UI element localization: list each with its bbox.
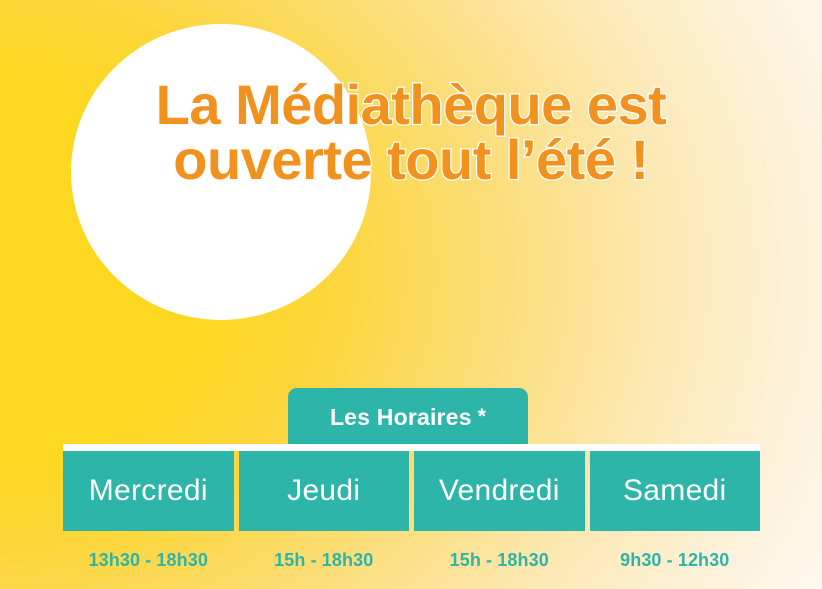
day-cell-0: Mercredi [63, 451, 234, 531]
hours-cell-1: 15h - 18h30 [239, 543, 410, 577]
days-header-row: Mercredi Jeudi Vendredi Samedi [63, 451, 760, 531]
headline-line-1: La Médiathèque est [0, 78, 822, 133]
hours-values-row: 13h30 - 18h30 15h - 18h30 15h - 18h30 9h… [63, 543, 760, 577]
table-top-rail-divider [63, 444, 760, 451]
day-cell-1: Jeudi [239, 451, 410, 531]
hours-cell-2: 15h - 18h30 [414, 543, 585, 577]
schedule-section: Les Horaires * * le mardi restant provis… [0, 388, 822, 589]
hours-cell-0: 13h30 - 18h30 [63, 543, 234, 577]
poster-canvas: La Médiathèque est ouverte tout l’été ! … [0, 0, 822, 589]
day-cell-2: Vendredi [414, 451, 585, 531]
hours-cell-3: 9h30 - 12h30 [590, 543, 761, 577]
day-cell-3: Samedi [590, 451, 761, 531]
asterisk-marker: * [478, 405, 486, 429]
schedule-tab-label: Les Horaires [330, 404, 472, 431]
schedule-tab-header: Les Horaires * [288, 388, 528, 446]
headline-line-2: ouverte tout l’été ! [0, 133, 822, 188]
page-title: La Médiathèque est ouverte tout l’été ! [0, 78, 822, 188]
